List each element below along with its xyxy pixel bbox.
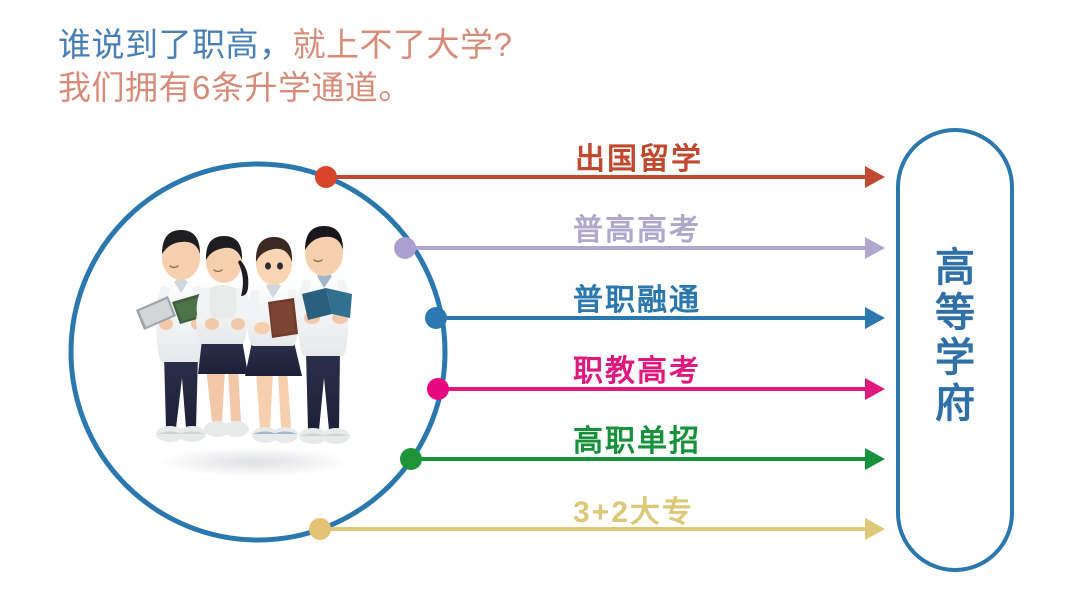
pathway-node-dot-three-plus-two-college[interactable] xyxy=(309,518,331,540)
pathway-arrowhead-study-abroad xyxy=(865,166,885,188)
source-ellipse xyxy=(71,164,445,540)
pathway-label-three-plus-two-college: 3+2大专 xyxy=(573,487,694,531)
pathway-node-dot-higher-vocational-single-enrollment[interactable] xyxy=(400,448,422,470)
destination-char-2: 学 xyxy=(924,336,986,381)
pathway-arrowhead-higher-vocational-single-enrollment xyxy=(865,448,885,470)
destination-char-1: 等 xyxy=(924,291,986,336)
pathway-node-dot-study-abroad[interactable] xyxy=(315,166,337,188)
pathway-node-dot-general-vocational-integration[interactable] xyxy=(425,307,447,329)
pathway-arrowhead-three-plus-two-college xyxy=(865,518,885,540)
destination-char-3: 府 xyxy=(924,382,986,427)
destination-char-0: 高 xyxy=(924,246,986,291)
pathway-arrowhead-general-vocational-integration xyxy=(865,307,885,329)
pathways-diagram xyxy=(0,0,1080,608)
slide-canvas: 谁说到了职高，就上不了大学? 我们拥有6条升学通道。 xyxy=(0,0,1080,608)
pathway-label-vocational-gaokao: 职教高考 xyxy=(573,346,701,390)
pathway-node-dot-vocational-gaokao[interactable] xyxy=(427,378,449,400)
pathway-label-study-abroad: 出国留学 xyxy=(575,134,703,178)
destination-label: 高等学府 xyxy=(924,246,986,427)
pathway-label-higher-vocational-single-enrollment: 高职单招 xyxy=(573,416,701,460)
pathway-label-general-gaokao: 普高高考 xyxy=(573,205,701,249)
pathway-arrowhead-general-gaokao xyxy=(865,237,885,259)
pathway-arrowhead-vocational-gaokao xyxy=(865,378,885,400)
pathway-node-dot-general-gaokao[interactable] xyxy=(394,237,416,259)
pathway-label-general-vocational-integration: 普职融通 xyxy=(573,275,701,319)
